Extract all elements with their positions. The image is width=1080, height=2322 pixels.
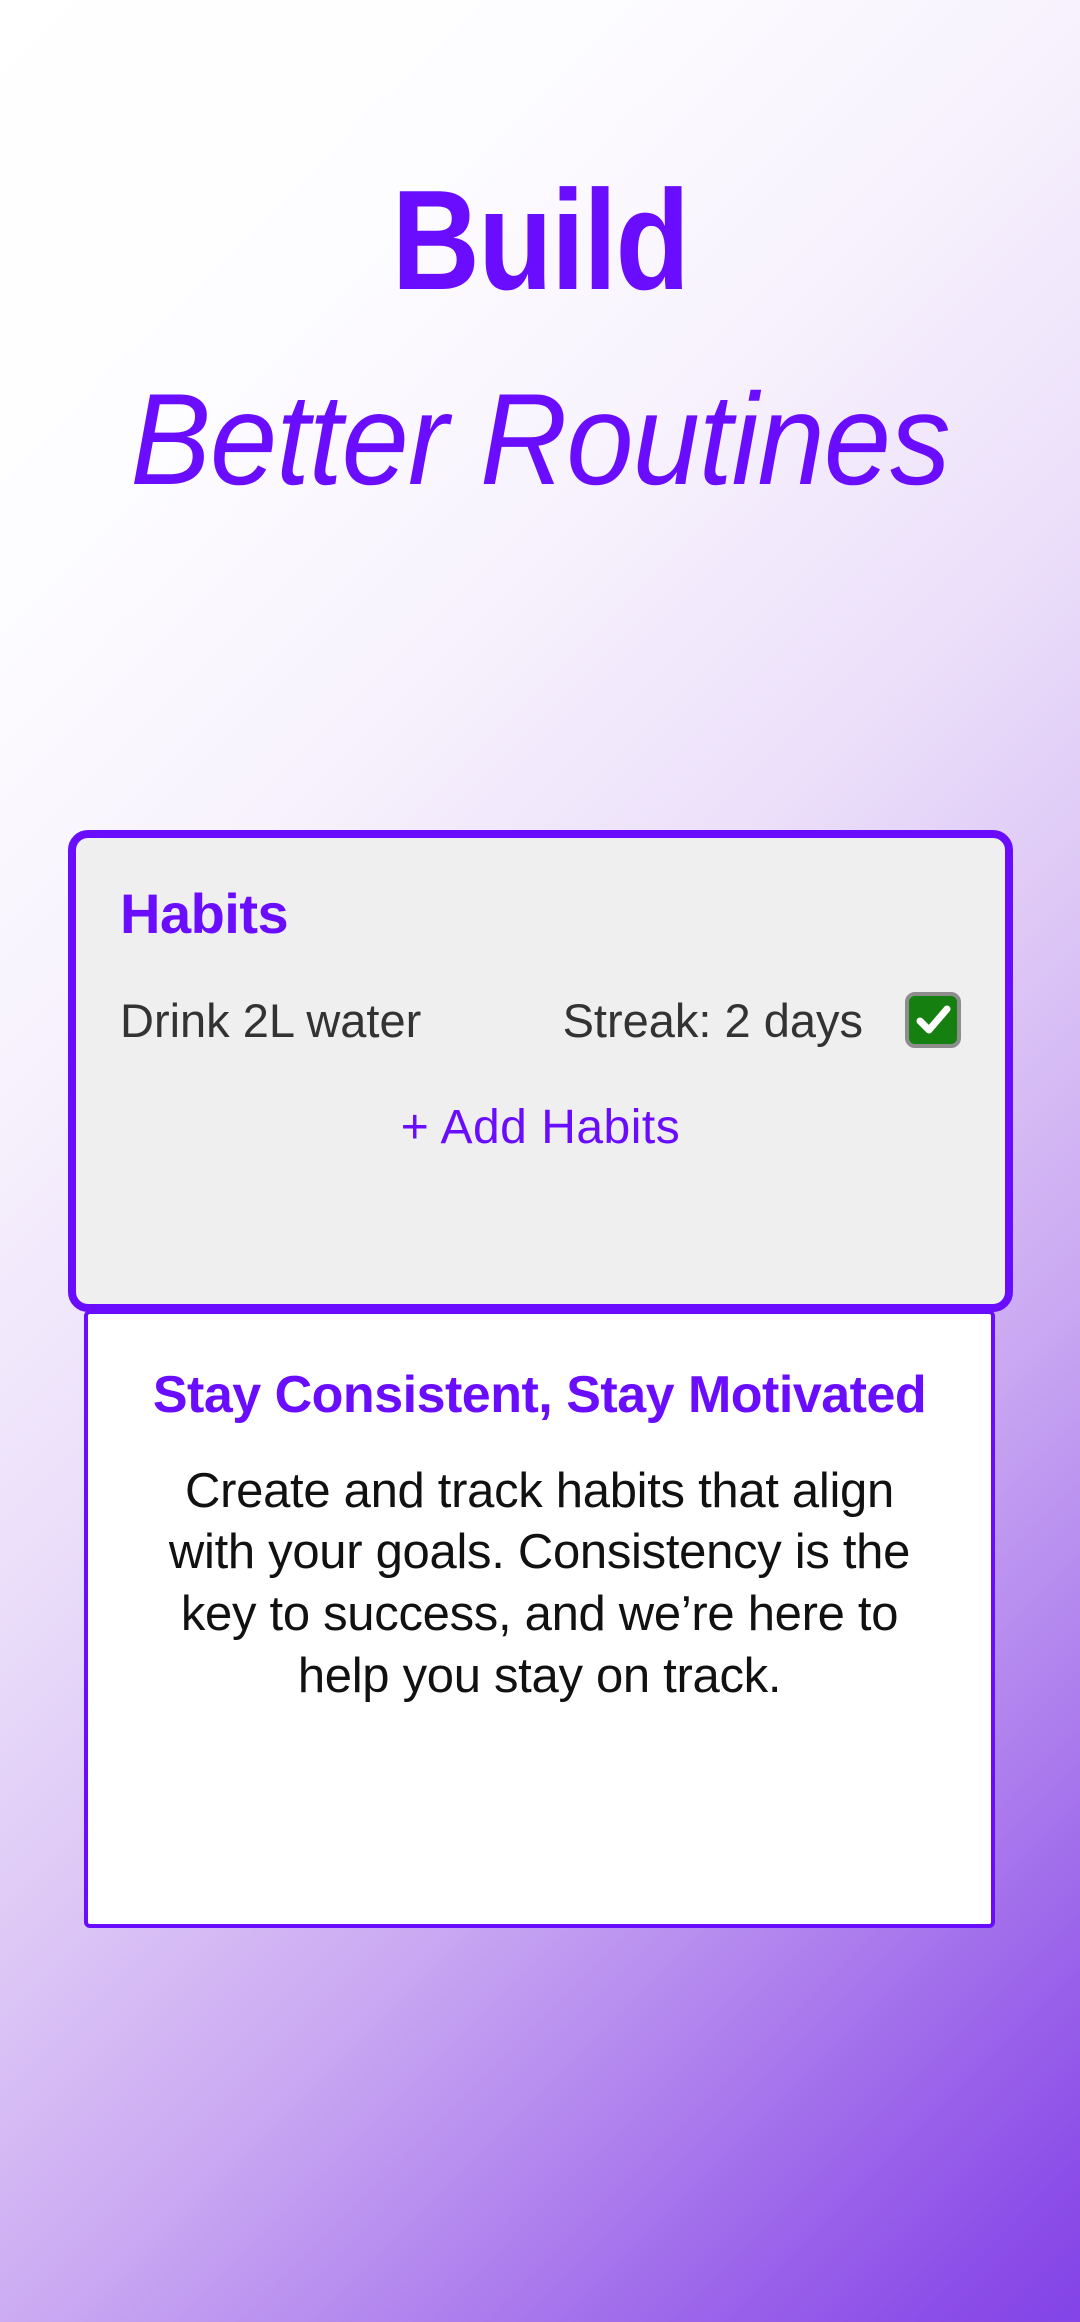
hero-title-line-1: Build [76,170,1005,312]
habit-list-item[interactable]: Drink 2L water Streak: 2 days [120,992,961,1048]
info-card: Stay Consistent, Stay Motivated Create a… [84,1310,995,1928]
add-habits-button[interactable]: + Add Habits [120,1100,961,1155]
habit-status-group: Streak: 2 days [563,992,961,1048]
habit-complete-checkbox[interactable] [905,992,961,1048]
check-icon [913,1000,953,1040]
hero-title-line-2: Better Routines [38,374,1042,504]
info-card-body: Create and track habits that align with … [146,1461,933,1708]
habits-card: Habits Drink 2L water Streak: 2 days + A… [68,830,1013,1312]
hero-heading: Build Better Routines [0,170,1080,504]
habit-name: Drink 2L water [120,993,421,1048]
habit-streak-label: Streak: 2 days [563,993,863,1048]
habits-card-title: Habits [120,886,961,942]
info-card-title: Stay Consistent, Stay Motivated [146,1360,933,1431]
